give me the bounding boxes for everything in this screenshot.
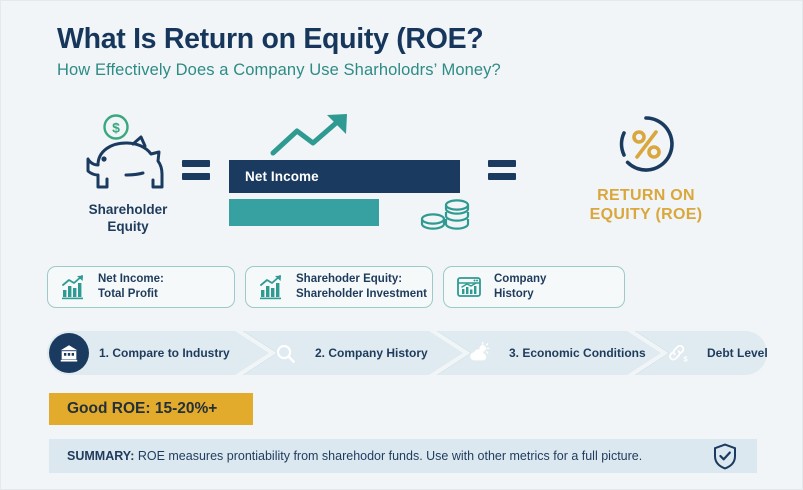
summary-body: ROE measures prontiability from sharehod… [134,449,642,463]
bank-building-icon-badge [49,333,89,373]
shield-check-icon [713,443,737,470]
equals-sign-1 [182,160,210,186]
browser-chart-icon [456,274,482,300]
piggy-bank-icon: $ [63,113,193,195]
chain-link-dollar-icon: $ [665,341,689,365]
good-roe-banner: Good ROE: 15-20%+ [49,393,253,425]
equity-label-line2: Equity [63,219,193,236]
definition-card-net-income[interactable]: Net Income: Total Profit [47,266,235,308]
card-line1: Sharehoder Equity: [296,272,427,287]
net-income-label: Net Income [245,169,319,184]
bank-building-icon [58,342,80,364]
cloud-sun-icon-badge [459,333,499,373]
svg-text:$: $ [683,354,687,363]
magnifier-icon [274,342,297,365]
step-label: 3. Economic Conditions [509,346,646,360]
card-line1: Net Income: [98,272,164,287]
good-roe-text: Good ROE: 15-20%+ [67,400,217,418]
step-label: 1. Compare to Industry [99,346,230,360]
shareholder-equity-label: Shareholder Equity [63,202,193,236]
coin-stack-icon [415,197,477,231]
card-line2: History [494,287,546,302]
card-line2: Shareholder Investment [296,287,427,302]
trend-up-arrow-icon [269,111,355,159]
card-line2: Total Profit [98,287,164,302]
magnifier-icon-badge [265,333,305,373]
summary-text: SUMMARY: ROE measures prontiability from… [67,449,642,463]
percent-circle-icon [615,113,677,175]
roe-label-line2: EQUITY (ROE) [541,205,751,224]
page-subtitle: How Effectively Does a Company Use Sharh… [57,61,501,80]
shareholder-equity-block: $ Shareholder Equity [63,113,193,233]
bar-chart-growth-icon [60,274,86,300]
summary-bar: SUMMARY: ROE measures prontiability from… [49,439,757,473]
equity-label-line1: Shareholder [63,202,193,219]
cloud-sun-icon [467,341,491,365]
chain-link-dollar-icon-badge: $ [657,333,697,373]
roe-label-line1: RETURN ON [541,186,751,205]
net-income-bar: Net Income [229,160,460,193]
svg-text:$: $ [112,120,120,136]
roe-result-block: RETURN ON EQUITY (ROE) [541,113,751,224]
step-company-history[interactable]: 2. Company History [243,331,463,375]
roe-result-label: RETURN ON EQUITY (ROE) [541,186,751,224]
equals-sign-2 [488,160,516,186]
step-compare-to-industry[interactable]: 1. Compare to Industry [47,331,269,375]
shareholder-equity-bar [229,199,379,226]
page-title: What Is Return on Equity (ROE? [57,23,483,56]
definition-card-company-history[interactable]: Company History [443,266,625,308]
summary-label: SUMMARY: [67,449,134,463]
definition-card-shareholder-equity[interactable]: Sharehoder Equity: Shareholder Investmen… [245,266,433,308]
step-label: 2. Company History [315,346,428,360]
step-economic-conditions[interactable]: 3. Economic Conditions [437,331,661,375]
card-line1: Company [494,272,546,287]
infographic-canvas: What Is Return on Equity (ROE? How Effec… [0,0,803,490]
bar-chart-growth-icon [258,274,284,300]
process-steps: 1. Compare to Industry 2. Company Histor… [47,331,767,375]
step-label: Debt Levels [707,346,774,360]
